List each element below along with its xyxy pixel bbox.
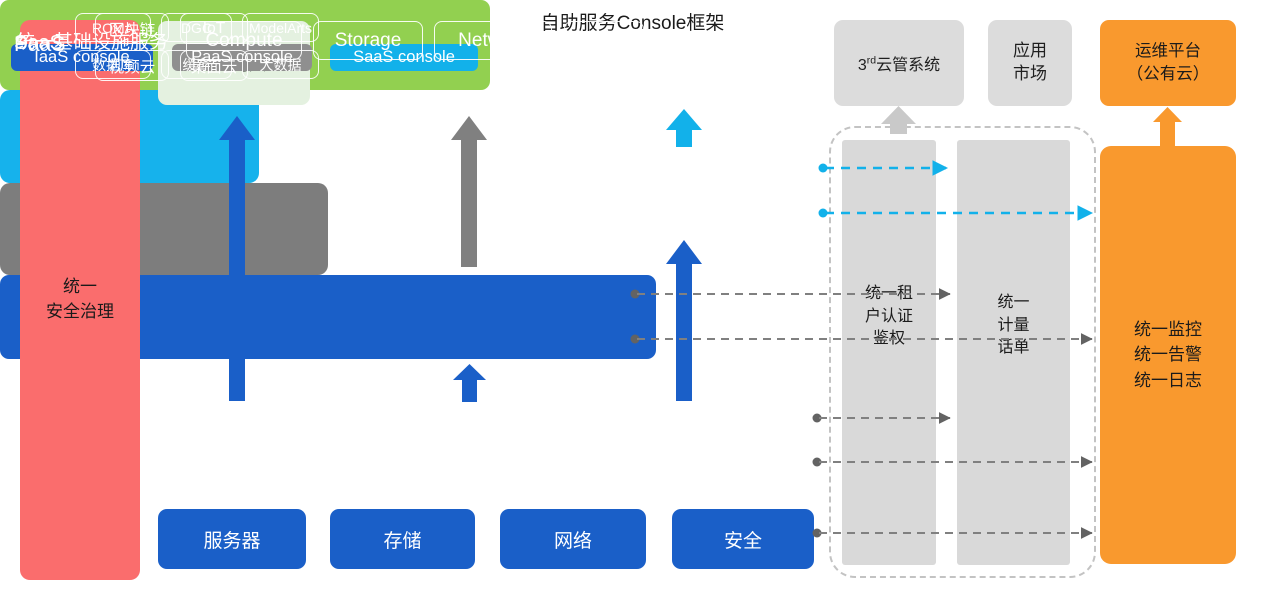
ops-column-line1: 统一监控 [1134, 317, 1202, 343]
unified-monitoring-column: 统一监控 统一告警 统一日志 [1100, 146, 1236, 564]
ops-column-line3: 统一日志 [1134, 368, 1202, 394]
bottom-box-server: 服务器 [158, 509, 306, 569]
tenant-auth-line1: 统一租 [842, 283, 936, 306]
tenant-auth-column-label: 统一租 户认证 鉴权 [842, 283, 936, 351]
infra-bar-label: 统一基础设施服务 [16, 27, 168, 54]
bottom-box-storage: 存储 [330, 509, 475, 569]
security-governance-column: 统一 安全治理 [20, 20, 140, 580]
third-party-cloud-management-box: 3rd云管系统 [834, 20, 964, 106]
ops-platform-box: 运维平台 （公有云） [1100, 20, 1236, 106]
app-market-line2: 市场 [1013, 63, 1047, 86]
security-governance-line2: 安全治理 [46, 300, 114, 325]
metering-line3: 话单 [957, 337, 1070, 360]
arrow-infra-to-paas [453, 364, 486, 402]
infra-chip-compute[interactable]: Compute [186, 21, 302, 60]
tenant-auth-line2: 户认证 [842, 306, 936, 329]
arrow-ops-column-to-ops-platform [1153, 107, 1182, 147]
infra-chip-network[interactable]: Network [434, 21, 552, 60]
bottom-box-network: 网络 [500, 509, 646, 569]
arrow-infra-to-saas [666, 240, 702, 401]
metering-billing-column-label: 统一 计量 话单 [957, 292, 1070, 360]
ops-platform-line2: （公有云） [1127, 63, 1210, 86]
tenant-auth-line3: 鉴权 [842, 328, 936, 351]
architecture-diagram: 统一 安全治理 API网关 自助服务Console框架 IaaS console… [0, 0, 1265, 605]
app-market-box: 应用 市场 [988, 20, 1072, 106]
security-governance-line1: 统一 [46, 275, 114, 300]
infra-chip-storage[interactable]: Storage [313, 21, 423, 60]
arrow-paas-to-console [451, 116, 487, 267]
app-market-line1: 应用 [1013, 40, 1047, 63]
metering-line1: 统一 [957, 292, 1070, 315]
arrow-saas-to-saas-console [666, 109, 702, 147]
ops-platform-line1: 运维平台 [1127, 40, 1210, 63]
tenant-auth-column [842, 140, 936, 565]
bottom-box-security: 安全 [672, 509, 814, 569]
paas-chip-database[interactable]: 数据库 [75, 50, 151, 79]
infra-chip-cce[interactable]: CCE [564, 21, 644, 60]
metering-line2: 计量 [957, 315, 1070, 338]
third-party-cloud-label: 3rd云管系统 [858, 51, 940, 75]
ops-column-line2: 统一告警 [1134, 342, 1202, 368]
